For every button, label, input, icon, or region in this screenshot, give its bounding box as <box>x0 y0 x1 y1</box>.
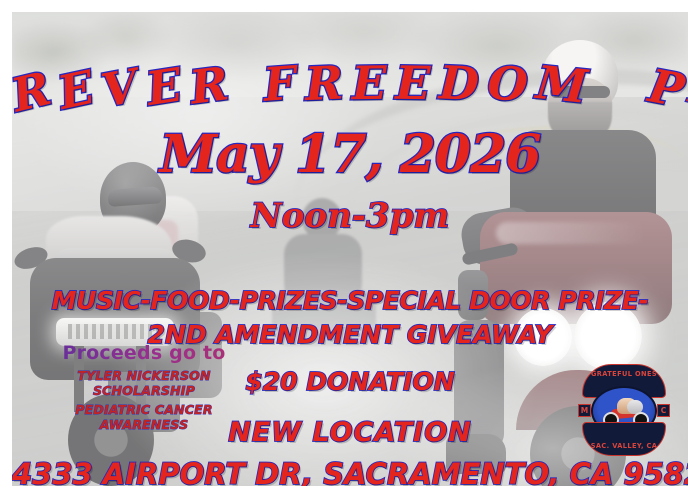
title-char: P <box>645 62 687 114</box>
title-char: M <box>534 59 589 110</box>
event-date: May 17, 2026 <box>12 124 688 185</box>
title-char: E <box>395 60 431 106</box>
title-char: D <box>438 59 480 107</box>
venue-address: 4333 AIRPORT DR, SACRAMENTO, CA 95821 <box>12 457 688 486</box>
title-char: R <box>12 65 55 119</box>
patch-bottom-rocker-text: SAC. VALLEY, CA <box>583 442 665 450</box>
title-char: O <box>486 59 529 108</box>
title-char: R <box>187 60 231 110</box>
title-char: R <box>304 59 344 107</box>
proceeds-heading: Proceeds go to <box>34 342 254 364</box>
club-patch-logo: GRATEFUL ONES M C SAC. VALLEY, CA <box>578 364 670 456</box>
beneficiary-awareness: PEDIATRIC CANCER AWARENESS <box>34 402 254 432</box>
patch-letter-m: M <box>578 404 591 417</box>
patch-top-rocker-text: GRATEFUL ONES <box>583 370 665 378</box>
text-layer: FOREVERFREEDOMPARTY May 17, 2026 Noon-3p… <box>12 12 688 486</box>
title-char: E <box>143 61 185 112</box>
beneficiary-scholarship: TYLER NICKERSON SCHOLARSHIP <box>34 368 254 398</box>
proceeds-block: Proceeds go to TYLER NICKERSON SCHOLARSH… <box>34 342 254 432</box>
title-char: E <box>351 60 387 106</box>
photo-frame: FOREVERFREEDOMPARTY May 17, 2026 Noon-3p… <box>12 12 688 486</box>
event-offerings-line-1: MUSIC-FOOD-PRIZES-SPECIAL DOOR PRIZE- <box>12 286 688 315</box>
event-time: Noon-3pm <box>12 196 688 236</box>
title-char: F <box>262 60 298 108</box>
event-flyer: FOREVERFREEDOMPARTY May 17, 2026 Noon-3p… <box>0 0 700 500</box>
title-char: E <box>54 64 98 116</box>
title-char: V <box>98 62 142 114</box>
patch-bottom-rocker: SAC. VALLEY, CA <box>582 422 666 456</box>
patch-letter-c: C <box>657 404 670 417</box>
